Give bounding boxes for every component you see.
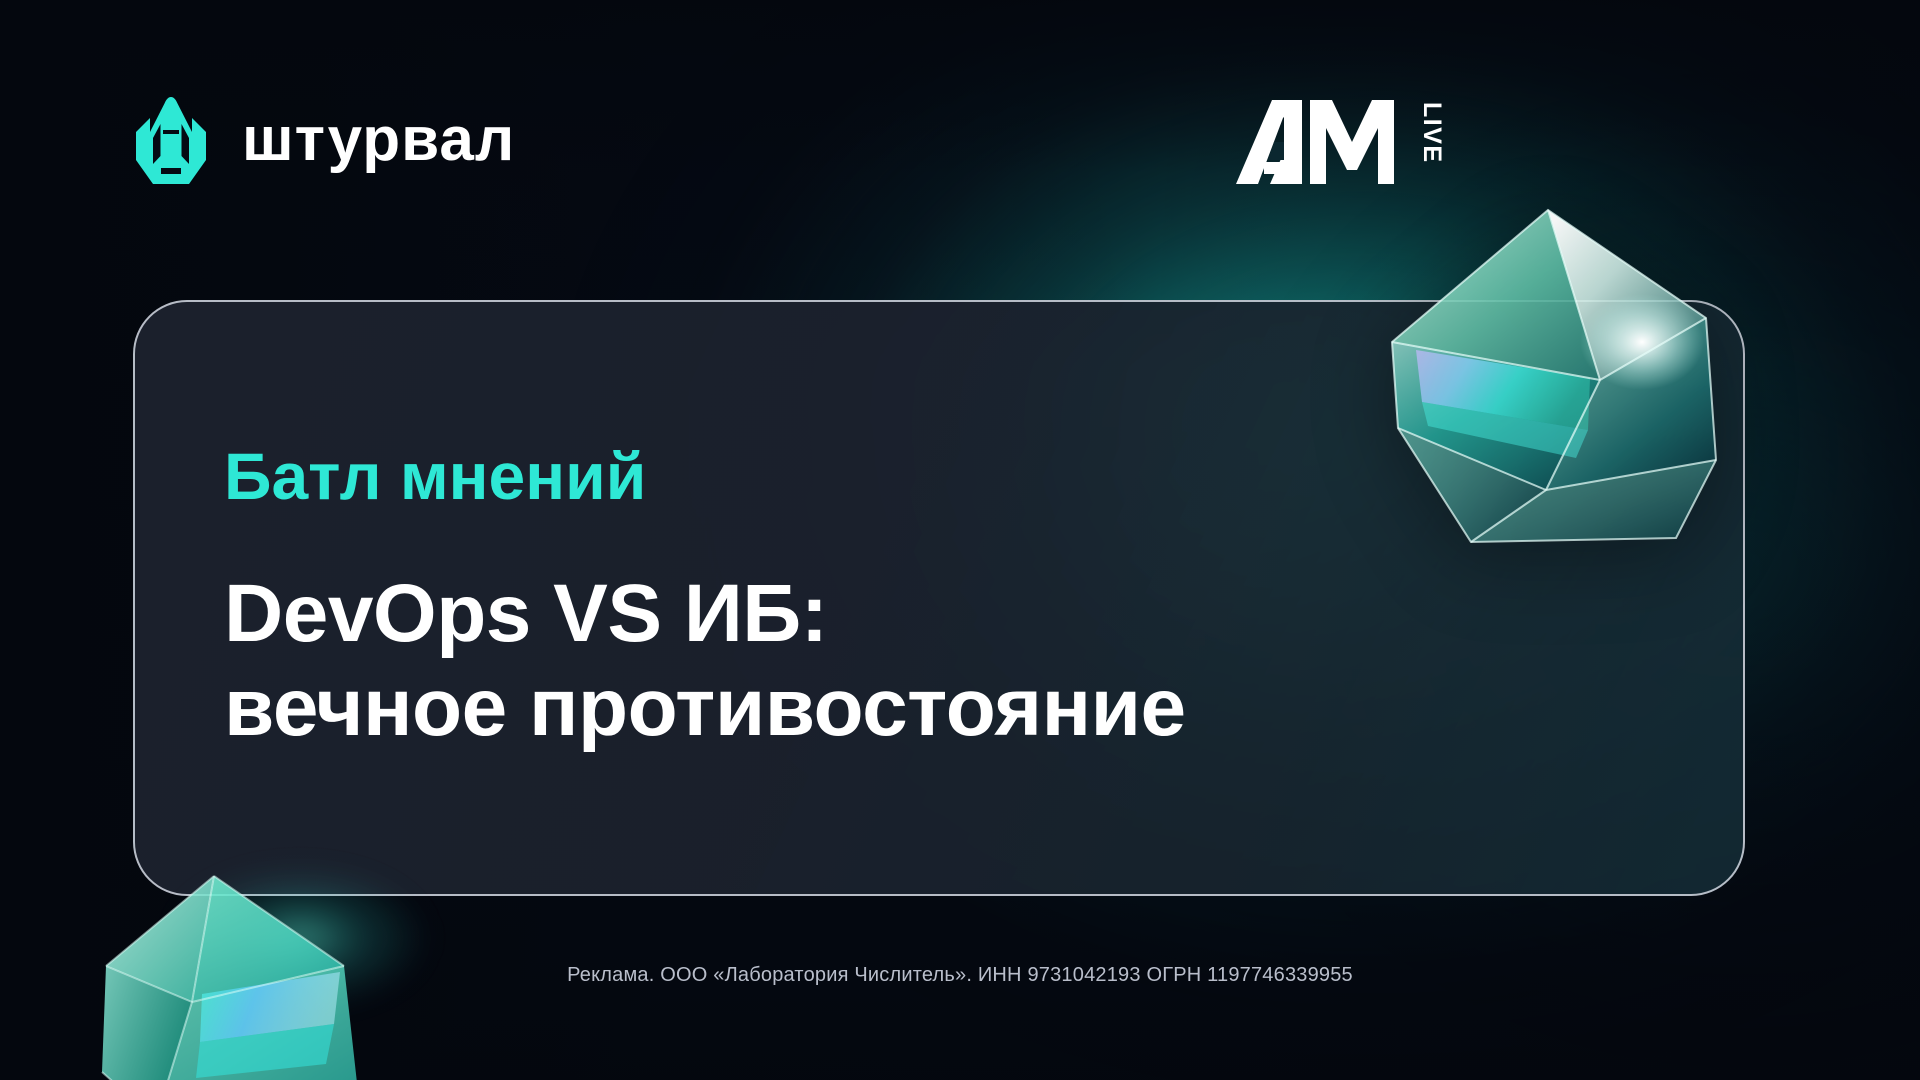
card-title: DevOps VS ИБ: вечное противостояние	[224, 567, 1703, 754]
shturval-helm-icon	[128, 94, 214, 186]
glass-octahedron-icon	[1376, 190, 1796, 560]
legal-disclaimer: Реклама. ООО «Лаборатория Числитель». ИН…	[0, 964, 1920, 987]
brand-name: штурвал	[242, 109, 515, 171]
brand-lockup: штурвал	[128, 94, 515, 186]
am-live-logo-icon: LIVE	[1228, 96, 1460, 188]
am-live-logo: LIVE	[1228, 96, 1460, 188]
svg-text:LIVE: LIVE	[1418, 102, 1446, 164]
promo-banner: штурвал LIVE	[0, 0, 1920, 1080]
